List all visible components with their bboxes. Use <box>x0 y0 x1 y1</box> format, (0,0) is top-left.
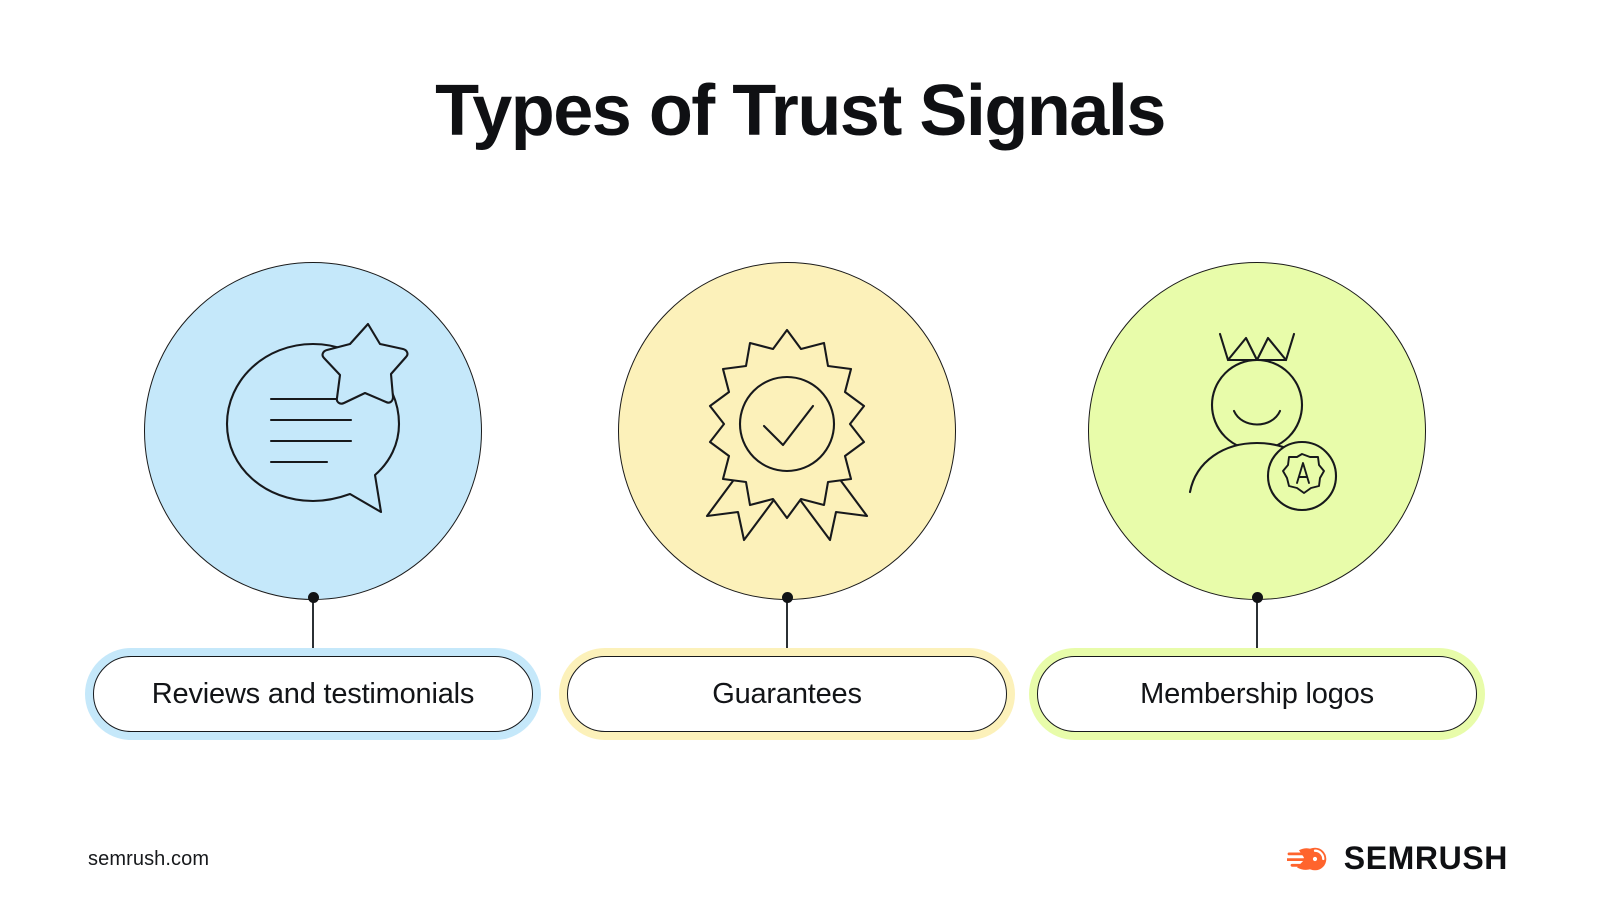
trust-signal-item-membership: Membership logos <box>1022 0 1492 923</box>
trust-signal-columns: Reviews and testimonials <box>0 0 1600 923</box>
icon-circle-guarantees <box>618 262 956 600</box>
trust-signal-item-guarantees: Guarantees <box>552 0 1022 923</box>
label-text-membership: Membership logos <box>1140 678 1374 711</box>
label-pill-inner: Guarantees <box>567 656 1007 732</box>
label-pill-guarantees[interactable]: Guarantees <box>559 648 1015 740</box>
connector-dot <box>782 592 793 603</box>
footer-url[interactable]: semrush.com <box>88 848 209 871</box>
icon-circle-reviews <box>144 262 482 600</box>
speech-bubble-star-icon <box>198 316 428 546</box>
award-rosette-check-icon <box>672 316 902 546</box>
label-pill-inner: Reviews and testimonials <box>93 656 533 732</box>
label-pill-inner: Membership logos <box>1037 656 1477 732</box>
semrush-comet-icon <box>1287 842 1331 874</box>
semrush-wordmark: SEMRUSH <box>1344 842 1508 874</box>
infographic-canvas: Types of Trust Signals <box>0 0 1600 923</box>
icon-circle-membership <box>1088 262 1426 600</box>
crowned-person-badge-icon <box>1142 316 1372 546</box>
label-pill-reviews[interactable]: Reviews and testimonials <box>85 648 541 740</box>
semrush-logo[interactable]: SEMRUSH <box>1287 842 1508 874</box>
trust-signal-item-reviews: Reviews and testimonials <box>78 0 548 923</box>
label-text-reviews: Reviews and testimonials <box>152 678 474 711</box>
connector-dot <box>308 592 319 603</box>
connector-dot <box>1252 592 1263 603</box>
label-pill-membership[interactable]: Membership logos <box>1029 648 1485 740</box>
label-text-guarantees: Guarantees <box>712 678 862 711</box>
